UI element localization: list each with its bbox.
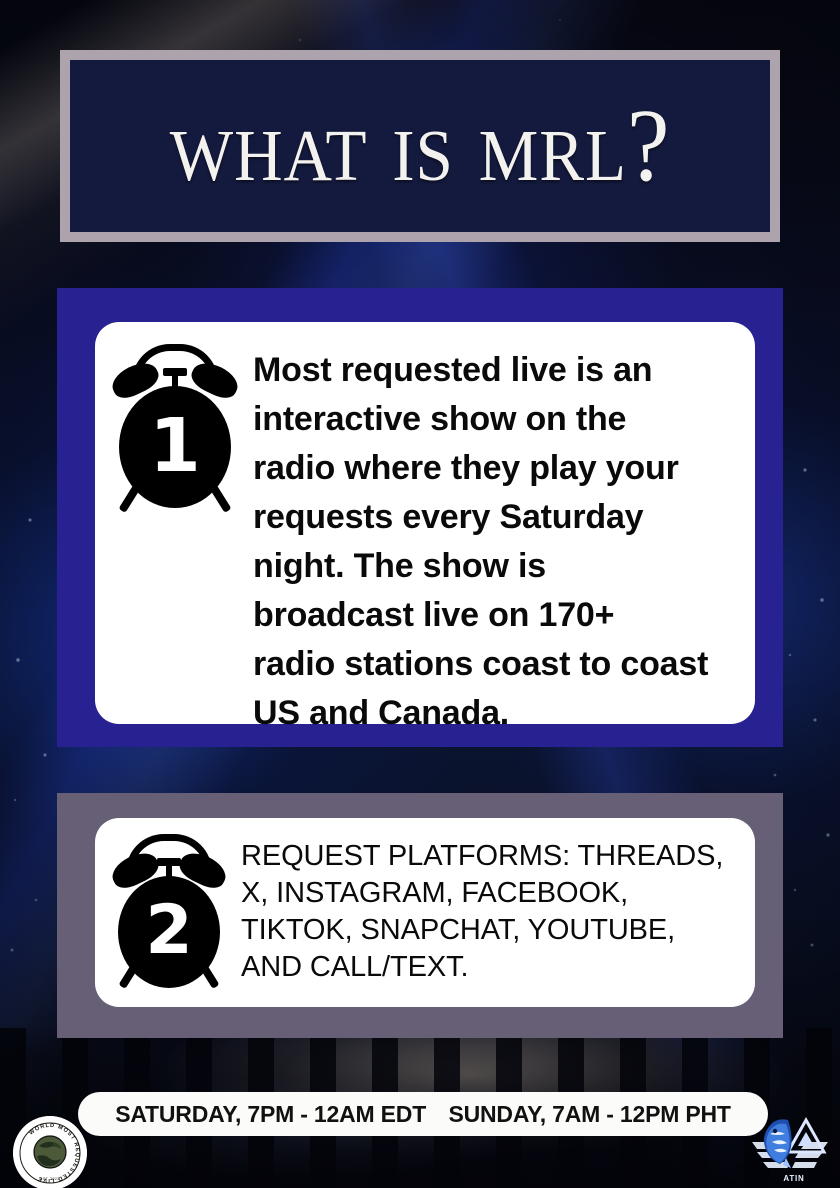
card-2-number: 2	[145, 897, 192, 965]
title-banner: What is MRL?	[60, 50, 780, 242]
card-1-line: night. The show is	[253, 542, 739, 591]
title-panel: What is MRL?	[70, 60, 770, 232]
card-2-frame: 2 REQUEST PLATFORMS: THREADS, X, INSTAGR…	[57, 793, 783, 1038]
schedule-text: SATURDAY, 7PM - 12AM EDT SUNDAY, 7AM - 1…	[115, 1101, 731, 1128]
card-1-line: interactive show on the	[253, 395, 739, 444]
card-1-frame: 1 Most requested live is an interactive …	[57, 288, 783, 747]
card-2-line: TIKTOK, SNAPCHAT, YOUTUBE,	[241, 912, 739, 949]
card-1-line: requests every Saturday	[253, 493, 739, 542]
card-1-text: Most requested live is an interactive sh…	[253, 342, 739, 738]
card-2-line: REQUEST PLATFORMS: THREADS,	[241, 838, 739, 875]
alarm-clock-icon: 2	[109, 832, 229, 990]
alarm-clock-icon: 1	[109, 342, 241, 514]
page-title: What is MRL?	[170, 94, 671, 198]
card-2: 2 REQUEST PLATFORMS: THREADS, X, INSTAGR…	[95, 818, 755, 1007]
clock-face: 2	[118, 876, 220, 988]
atin-eagle-logo: ATIN	[748, 1098, 832, 1184]
card-1-line: Most requested live is an	[253, 346, 739, 395]
card-1-line: radio where they play your	[253, 444, 739, 493]
card-1: 1 Most requested live is an interactive …	[95, 322, 755, 724]
card-2-line: AND CALL/TEXT.	[241, 949, 739, 986]
card-1-line: radio stations coast to coast	[253, 640, 739, 689]
card-2-text: REQUEST PLATFORMS: THREADS, X, INSTAGRAM…	[241, 832, 739, 986]
card-2-line: X, INSTAGRAM, FACEBOOK,	[241, 875, 739, 912]
schedule-pill: SATURDAY, 7PM - 12AM EDT SUNDAY, 7AM - 1…	[78, 1092, 768, 1136]
most-requested-live-logo: WORLD MOST REQUESTED LIVE EST 2022	[13, 1116, 87, 1188]
svg-text:EST 2022: EST 2022	[40, 1177, 60, 1181]
poster-root: What is MRL? 1 Most requested live is an…	[0, 0, 840, 1188]
card-1-line: broadcast live on 170+	[253, 591, 739, 640]
card-1-line: US and Canada.	[253, 689, 739, 738]
card-1-number: 1	[149, 409, 201, 483]
svg-text:ATIN: ATIN	[783, 1174, 804, 1183]
clock-face: 1	[119, 386, 231, 508]
schedule-pht: SUNDAY, 7AM - 12PM PHT	[448, 1101, 730, 1127]
schedule-edt: SATURDAY, 7PM - 12AM EDT	[115, 1101, 426, 1127]
